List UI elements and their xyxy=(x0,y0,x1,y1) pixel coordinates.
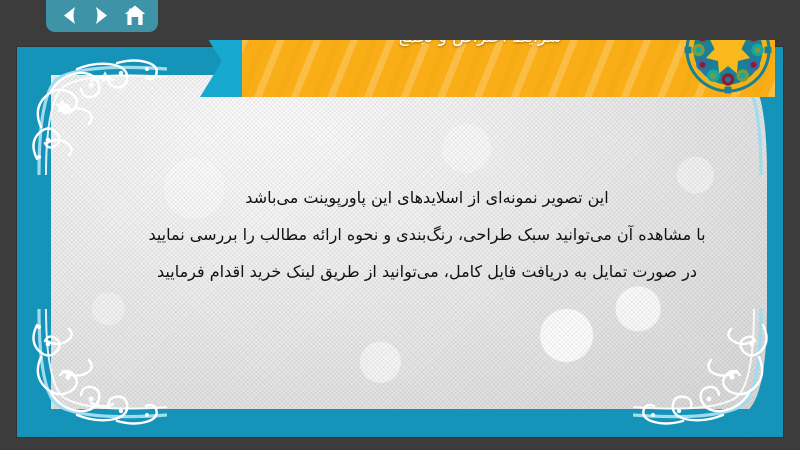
slide-body-text: این تصویر نمونه‌ای از اسلایدهای این پاور… xyxy=(77,179,777,290)
home-icon xyxy=(124,5,146,26)
triangle-left-icon xyxy=(61,6,78,25)
body-line-3: در صورت تمایل به دریافت فایل کامل، می‌تو… xyxy=(77,253,777,290)
body-line-1: این تصویر نمونه‌ای از اسلایدهای این پاور… xyxy=(77,179,777,216)
back-button[interactable] xyxy=(56,3,82,27)
presentation-viewer: این تصویر نمونه‌ای از اسلایدهای این پاور… xyxy=(0,0,800,450)
body-line-2: با مشاهده آن می‌توانید سبک طراحی، رنگ‌بن… xyxy=(77,216,777,253)
triangle-right-icon xyxy=(93,6,110,25)
home-button[interactable] xyxy=(122,3,148,27)
forward-button[interactable] xyxy=(89,3,115,27)
navigation-bar xyxy=(0,0,800,40)
slide-canvas[interactable]: این تصویر نمونه‌ای از اسلایدهای این پاور… xyxy=(17,47,783,437)
navigation-button-group xyxy=(46,0,158,32)
